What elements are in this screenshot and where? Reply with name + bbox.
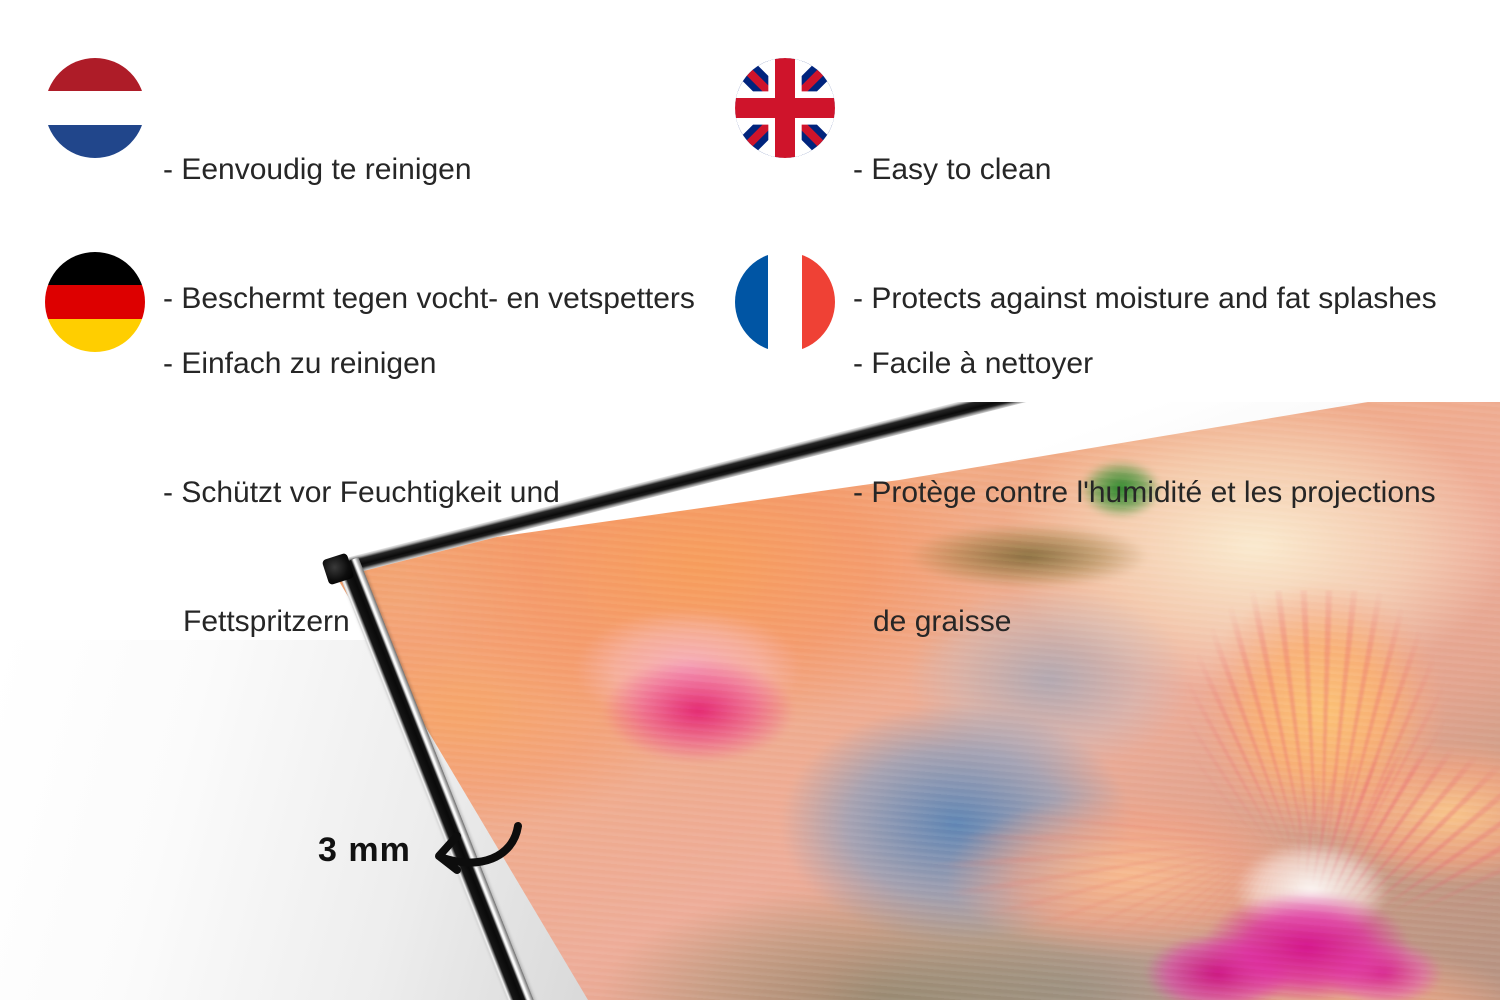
feature-line: de graisse xyxy=(853,600,1436,643)
feature-list: - Eenvoudig te reinigen - Beschermt tege… xyxy=(0,0,1500,400)
feature-line: - Protège contre l'humidité et les proje… xyxy=(853,471,1436,514)
curved-arrow-icon xyxy=(417,818,527,882)
feature-text-fr: - Facile à nettoyer - Protège contre l'h… xyxy=(853,252,1436,729)
flag-france-icon xyxy=(735,252,835,352)
thickness-label: 3 mm xyxy=(318,833,411,867)
thickness-callout: 3 mm xyxy=(318,818,527,882)
flag-netherlands-icon xyxy=(45,58,145,158)
feature-line: - Schützt vor Feuchtigkeit und xyxy=(163,471,560,514)
feature-item-fr: - Facile à nettoyer - Protège contre l'h… xyxy=(735,252,1436,729)
feature-line: - Eenvoudig te reinigen xyxy=(163,148,695,191)
flag-united-kingdom-icon xyxy=(735,58,835,158)
feature-line: - Easy to clean xyxy=(853,148,1437,191)
feature-line: Fettspritzern xyxy=(163,600,560,643)
orchid-petal-veins-left xyxy=(880,800,1300,1000)
flag-germany-icon xyxy=(45,252,145,352)
feature-text-de: - Einfach zu reinigen - Schützt vor Feuc… xyxy=(163,252,560,729)
product-detail-image: 3 mm - Eenvoudig te reinigen - Beschermt… xyxy=(0,0,1500,1000)
feature-line: - Einfach zu reinigen xyxy=(163,342,560,385)
feature-line: - Facile à nettoyer xyxy=(853,342,1436,385)
feature-item-de: - Einfach zu reinigen - Schützt vor Feuc… xyxy=(45,252,560,729)
